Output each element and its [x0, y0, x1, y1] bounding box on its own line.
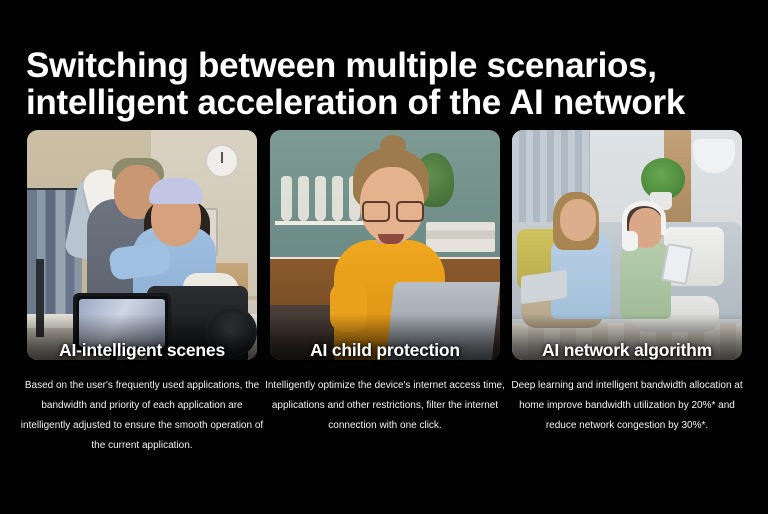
feature-card-ai-child-protection: AI child protection Intelligently optimi… — [270, 128, 500, 488]
card-body-text: Intelligently optimize the device's inte… — [263, 376, 507, 436]
feature-card-ai-intelligent-scenes: AI-intelligent scenes Based on the user'… — [27, 128, 257, 488]
feature-card-row: AI-intelligent scenes Based on the user'… — [0, 128, 768, 488]
card-body-text: Deep learning and intelligent bandwidth … — [505, 376, 749, 436]
card-caption: AI child protection — [264, 340, 506, 361]
card-photo — [270, 130, 500, 360]
promo-poster: Switching between multiple scenarios, in… — [0, 0, 768, 514]
card-photo — [512, 130, 742, 360]
card-caption: AI network algorithm — [506, 340, 748, 361]
headline-line-2: intelligent acceleration of the AI netwo… — [26, 84, 742, 121]
card-body-text: Based on the user's frequently used appl… — [20, 376, 264, 456]
card-caption: AI-intelligent scenes — [21, 340, 263, 361]
page-title: Switching between multiple scenarios, in… — [26, 47, 742, 121]
feature-card-ai-network-algorithm: AI network algorithm Deep learning and i… — [512, 128, 742, 488]
card-photo — [27, 130, 257, 360]
headline-line-1: Switching between multiple scenarios, — [26, 46, 657, 85]
